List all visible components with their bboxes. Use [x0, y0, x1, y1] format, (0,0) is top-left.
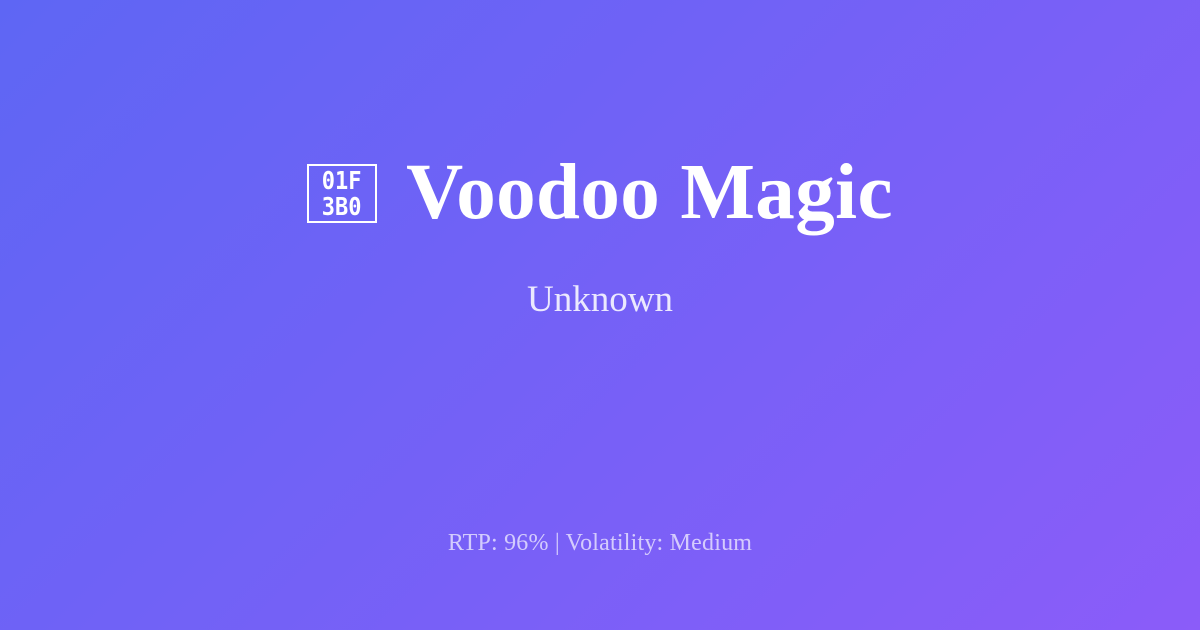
og-share-card: 01F 3B0 Voodoo Magic Unknown RTP: 96% | …	[0, 0, 1200, 630]
slot-machine-icon-codepoint-bottom: 3B0	[322, 194, 362, 220]
game-stats-meta: RTP: 96% | Volatility: Medium	[448, 528, 752, 558]
card-footer: RTP: 96% | Volatility: Medium	[0, 528, 1200, 558]
slot-machine-icon: 01F 3B0	[307, 164, 377, 223]
title-row: 01F 3B0 Voodoo Magic	[307, 150, 893, 236]
card-subtitle: Unknown	[527, 278, 673, 322]
card-main-content: 01F 3B0 Voodoo Magic Unknown	[0, 0, 1200, 478]
slot-machine-icon-codepoint-top: 01F	[322, 168, 362, 194]
page-title: Voodoo Magic	[406, 150, 893, 236]
